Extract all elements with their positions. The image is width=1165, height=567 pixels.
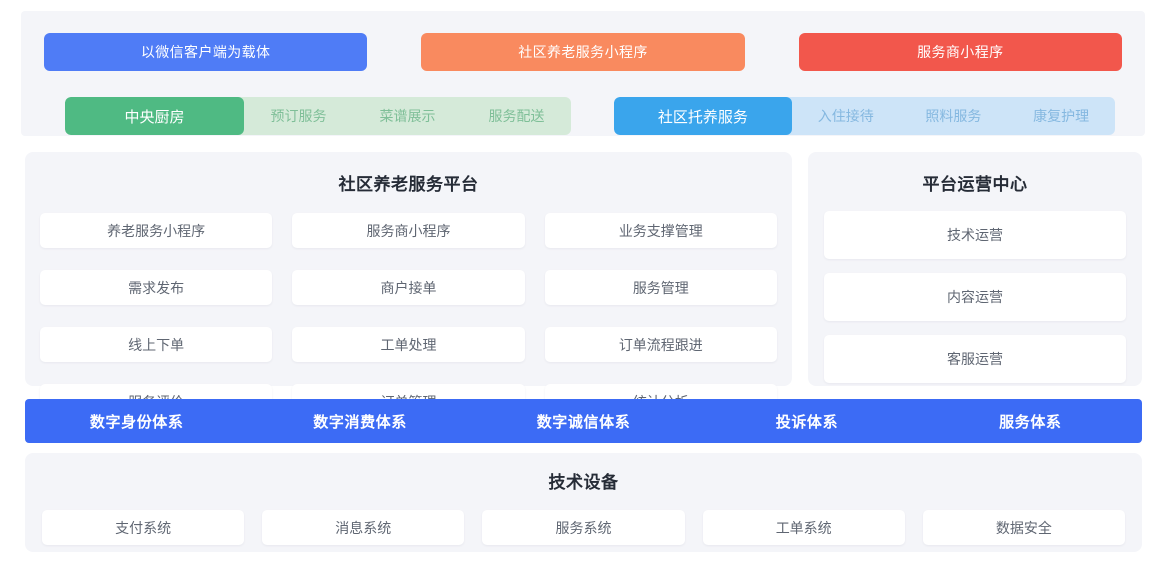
device-item[interactable]: 工单系统: [703, 510, 905, 545]
channel-button-row: 以微信客户端为载体 社区养老服务小程序 服务商小程序: [44, 33, 1122, 71]
platform-item[interactable]: 需求发布: [40, 270, 272, 305]
operations-item[interactable]: 内容运营: [824, 273, 1126, 321]
platform-item[interactable]: 订单流程跟进: [545, 327, 777, 362]
tab-care-service[interactable]: 照料服务: [900, 97, 1008, 135]
tabs-row: 中央厨房 预订服务 菜谱展示 服务配送 社区托养服务 入住接待 照料服务 康复护…: [65, 97, 1116, 135]
channel-button-community-elderly-miniprogram[interactable]: 社区养老服务小程序: [421, 33, 744, 71]
header-panel: 以微信客户端为载体 社区养老服务小程序 服务商小程序 中央厨房 预订服务 菜谱展…: [21, 11, 1145, 136]
operations-item[interactable]: 技术运营: [824, 211, 1126, 259]
platform-item[interactable]: 工单处理: [292, 327, 524, 362]
platform-item[interactable]: 线上下单: [40, 327, 272, 362]
platform-item[interactable]: 服务管理: [545, 270, 777, 305]
tab-reservation-service[interactable]: 预订服务: [244, 97, 353, 135]
operations-item[interactable]: 客服运营: [824, 335, 1126, 383]
tab-group-central-kitchen: 中央厨房 预订服务 菜谱展示 服务配送: [65, 97, 571, 135]
platform-item[interactable]: 商户接单: [292, 270, 524, 305]
operations-card-title: 平台运营中心: [808, 152, 1142, 195]
channel-button-provider-miniprogram[interactable]: 服务商小程序: [799, 33, 1122, 71]
system-item-complaint[interactable]: 投诉体系: [695, 411, 918, 432]
tab-menu-display[interactable]: 菜谱展示: [353, 97, 462, 135]
device-item[interactable]: 服务系统: [482, 510, 684, 545]
platform-item[interactable]: 业务支撑管理: [545, 213, 777, 248]
architecture-diagram-page: 以微信客户端为载体 社区养老服务小程序 服务商小程序 中央厨房 预订服务 菜谱展…: [0, 0, 1165, 567]
operations-card: 平台运营中心 技术运营 内容运营 客服运营: [808, 152, 1142, 386]
tab-admission-reception[interactable]: 入住接待: [792, 97, 900, 135]
platform-card-title: 社区养老服务平台: [25, 152, 792, 195]
device-item[interactable]: 支付系统: [42, 510, 244, 545]
channel-button-wechat-carrier[interactable]: 以微信客户端为载体: [44, 33, 367, 71]
platform-card: 社区养老服务平台 养老服务小程序 服务商小程序 业务支撑管理 需求发布 商户接单…: [25, 152, 792, 386]
platform-card-grid: 养老服务小程序 服务商小程序 业务支撑管理 需求发布 商户接单 服务管理 线上下…: [25, 195, 792, 419]
device-item[interactable]: 消息系统: [262, 510, 464, 545]
devices-panel: 技术设备 支付系统 消息系统 服务系统 工单系统 数据安全: [25, 453, 1142, 552]
tab-central-kitchen[interactable]: 中央厨房: [65, 97, 244, 135]
system-item-digital-identity[interactable]: 数字身份体系: [25, 411, 248, 432]
system-item-digital-credit[interactable]: 数字诚信体系: [472, 411, 695, 432]
tab-group-community-care: 社区托养服务 入住接待 照料服务 康复护理: [614, 97, 1115, 135]
tab-service-delivery[interactable]: 服务配送: [462, 97, 571, 135]
operations-card-list: 技术运营 内容运营 客服运营: [808, 195, 1142, 383]
system-item-service[interactable]: 服务体系: [919, 411, 1142, 432]
platform-item[interactable]: 服务商小程序: [292, 213, 524, 248]
device-item[interactable]: 数据安全: [923, 510, 1125, 545]
tab-community-care-service[interactable]: 社区托养服务: [614, 97, 792, 135]
tab-rehabilitation-nursing[interactable]: 康复护理: [1007, 97, 1115, 135]
devices-panel-title: 技术设备: [25, 453, 1142, 493]
system-item-digital-consumption[interactable]: 数字消费体系: [248, 411, 471, 432]
devices-panel-grid: 支付系统 消息系统 服务系统 工单系统 数据安全: [25, 493, 1142, 545]
platform-item[interactable]: 养老服务小程序: [40, 213, 272, 248]
system-bar: 数字身份体系 数字消费体系 数字诚信体系 投诉体系 服务体系: [25, 399, 1142, 443]
